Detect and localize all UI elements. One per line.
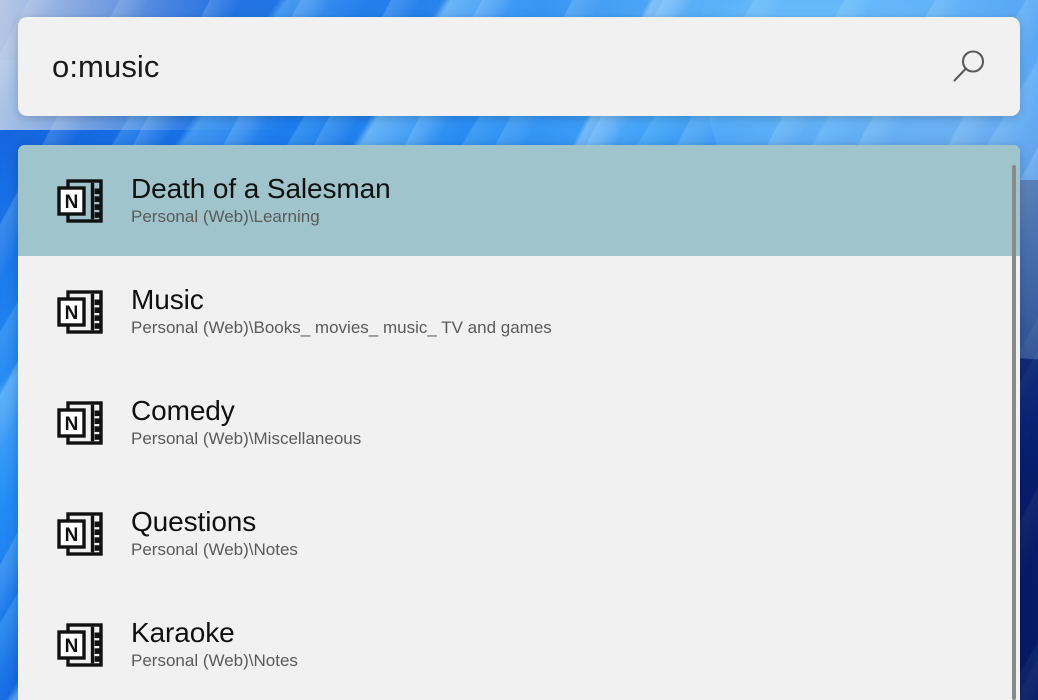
onenote-icon: N [52,505,110,563]
search-result-item[interactable]: N Questions Personal (Web)\Notes [18,478,1020,589]
results-scrollbar-thumb[interactable] [1012,165,1016,700]
onenote-icon-glyph: N [55,619,107,671]
results-scrollbar[interactable] [1006,145,1020,700]
search-box[interactable]: o:music [18,17,1020,116]
svg-text:N: N [65,636,79,657]
svg-text:N: N [65,192,79,213]
onenote-icon-glyph: N [55,508,107,560]
search-result-text: Death of a Salesman Personal (Web)\Learn… [131,173,391,227]
search-result-item[interactable]: N Music Personal (Web)\Books_ movies_ mu… [18,256,1020,367]
search-result-item[interactable]: N Death of a Salesman Personal (Web)\Lea… [18,145,1020,256]
search-results-panel: N Death of a Salesman Personal (Web)\Lea… [18,145,1020,700]
search-input[interactable]: o:music [52,51,942,82]
search-icon-glyph [947,46,989,88]
onenote-icon: N [52,283,110,341]
search-result-title: Questions [131,506,298,538]
onenote-icon: N [52,616,110,674]
desktop: o:music N [0,0,1038,700]
search-results-list: N Death of a Salesman Personal (Web)\Lea… [18,145,1020,700]
search-result-text: Music Personal (Web)\Books_ movies_ musi… [131,284,552,338]
search-result-text: Questions Personal (Web)\Notes [131,506,298,560]
search-result-subtitle: Personal (Web)\Books_ movies_ music_ TV … [131,318,552,338]
search-result-text: Karaoke Personal (Web)\Notes [131,617,298,671]
search-icon[interactable] [942,41,994,93]
search-result-title: Karaoke [131,617,298,649]
search-result-title: Comedy [131,395,361,427]
onenote-icon-glyph: N [55,397,107,449]
search-result-item[interactable]: N Comedy Personal (Web)\Miscellaneous [18,367,1020,478]
search-result-title: Music [131,284,552,316]
svg-text:N: N [65,414,79,435]
search-result-item[interactable]: N Karaoke Personal (Web)\Notes [18,589,1020,700]
search-result-subtitle: Personal (Web)\Notes [131,540,298,560]
search-result-title: Death of a Salesman [131,173,391,205]
svg-text:N: N [65,303,79,324]
search-result-subtitle: Personal (Web)\Miscellaneous [131,429,361,449]
svg-text:N: N [65,525,79,546]
onenote-icon: N [52,172,110,230]
search-result-subtitle: Personal (Web)\Learning [131,207,391,227]
onenote-icon: N [52,394,110,452]
onenote-icon-glyph: N [55,175,107,227]
search-result-subtitle: Personal (Web)\Notes [131,651,298,671]
onenote-icon-glyph: N [55,286,107,338]
search-result-text: Comedy Personal (Web)\Miscellaneous [131,395,361,449]
